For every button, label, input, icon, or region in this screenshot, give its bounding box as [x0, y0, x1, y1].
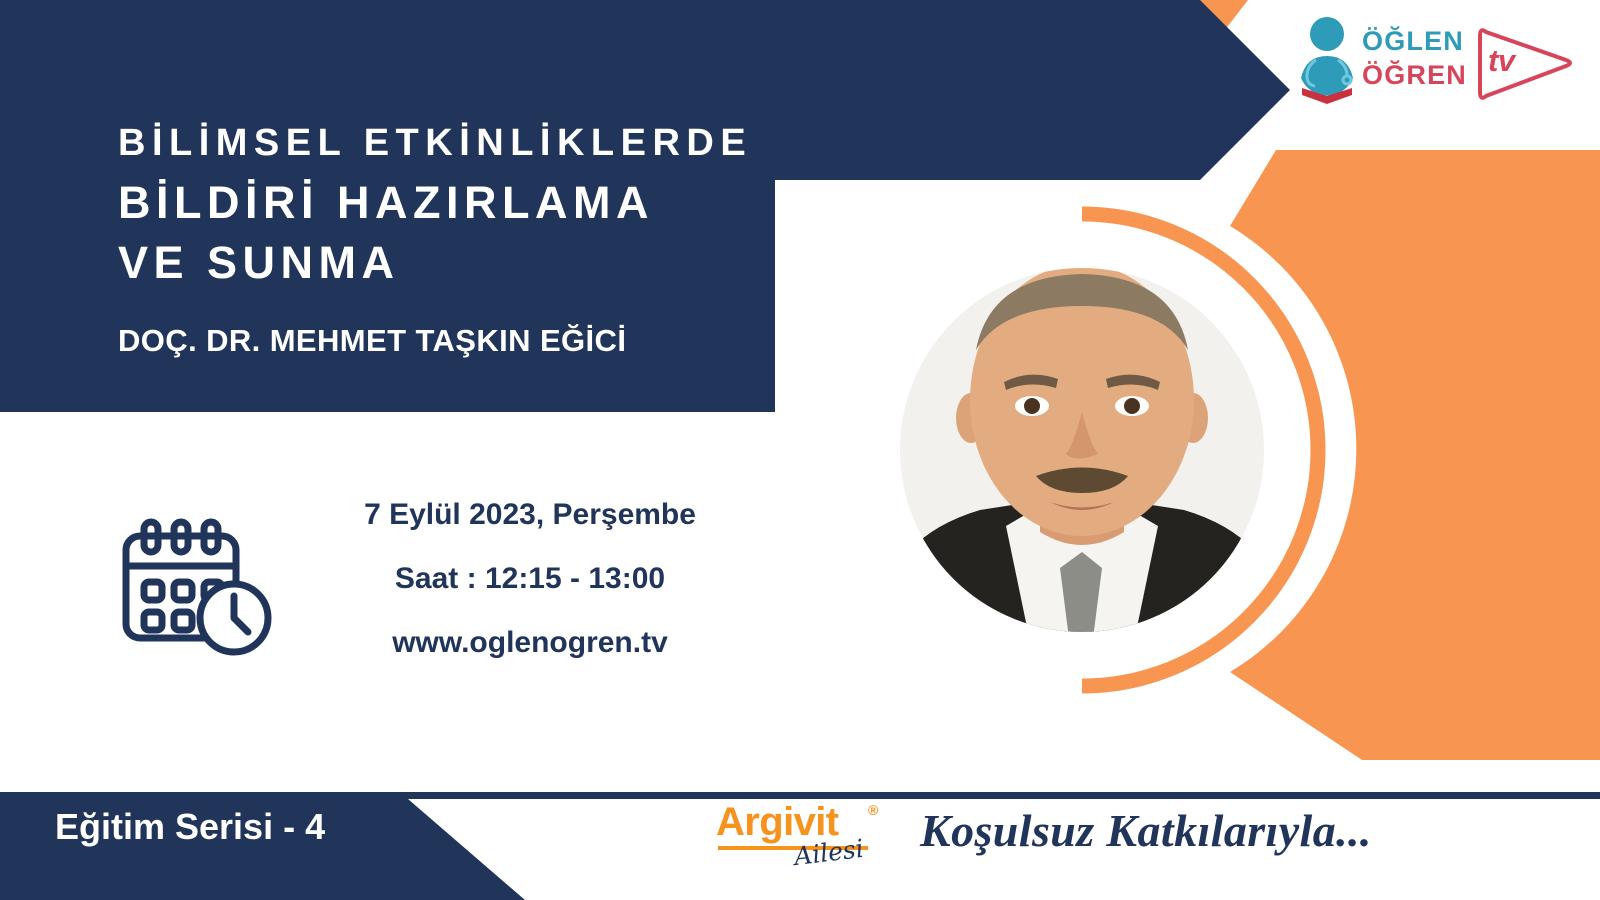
event-website[interactable]: www.oglenogren.tv: [330, 628, 730, 658]
logo-word-tv: tv: [1488, 43, 1515, 79]
calendar-clock-icon: [118, 518, 278, 658]
event-time: Saat : 12:15 - 13:00: [330, 564, 730, 594]
title-line-3: VE SUNMA: [118, 233, 878, 293]
promo-banner: BİLİMSEL ETKİNLİKLERDE BİLDİRİ HAZIRLAMA…: [0, 0, 1600, 900]
event-date: 7 Eylül 2023, Perşembe: [330, 500, 730, 530]
event-info: 7 Eylül 2023, Perşembe Saat : 12:15 - 13…: [330, 500, 730, 658]
argivit-logo: Argivit ® Ailesi: [716, 800, 896, 878]
doctor-reading-book-icon: [1296, 12, 1358, 112]
speaker-name: DOÇ. DR. MEHMET TAŞKIN EĞİCİ: [118, 323, 878, 359]
logo-word-oglen: ÖĞLEN: [1362, 26, 1464, 57]
series-label: Eğitim Serisi - 4: [55, 806, 325, 848]
sponsor-slogan: Koşulsuz Katkılarıyla...: [920, 804, 1372, 857]
oglen-ogren-tv-logo[interactable]: ÖĞLEN ÖĞREN tv: [1296, 8, 1586, 118]
title-line-2: BİLDİRİ HAZIRLAMA: [118, 173, 878, 233]
footer-rule: [0, 792, 1600, 799]
title-line-1: BİLİMSEL ETKİNLİKLERDE: [118, 122, 878, 165]
title-block: BİLİMSEL ETKİNLİKLERDE BİLDİRİ HAZIRLAMA…: [118, 122, 878, 359]
registered-mark: ®: [868, 802, 878, 818]
logo-word-ogren: ÖĞREN: [1362, 60, 1467, 91]
